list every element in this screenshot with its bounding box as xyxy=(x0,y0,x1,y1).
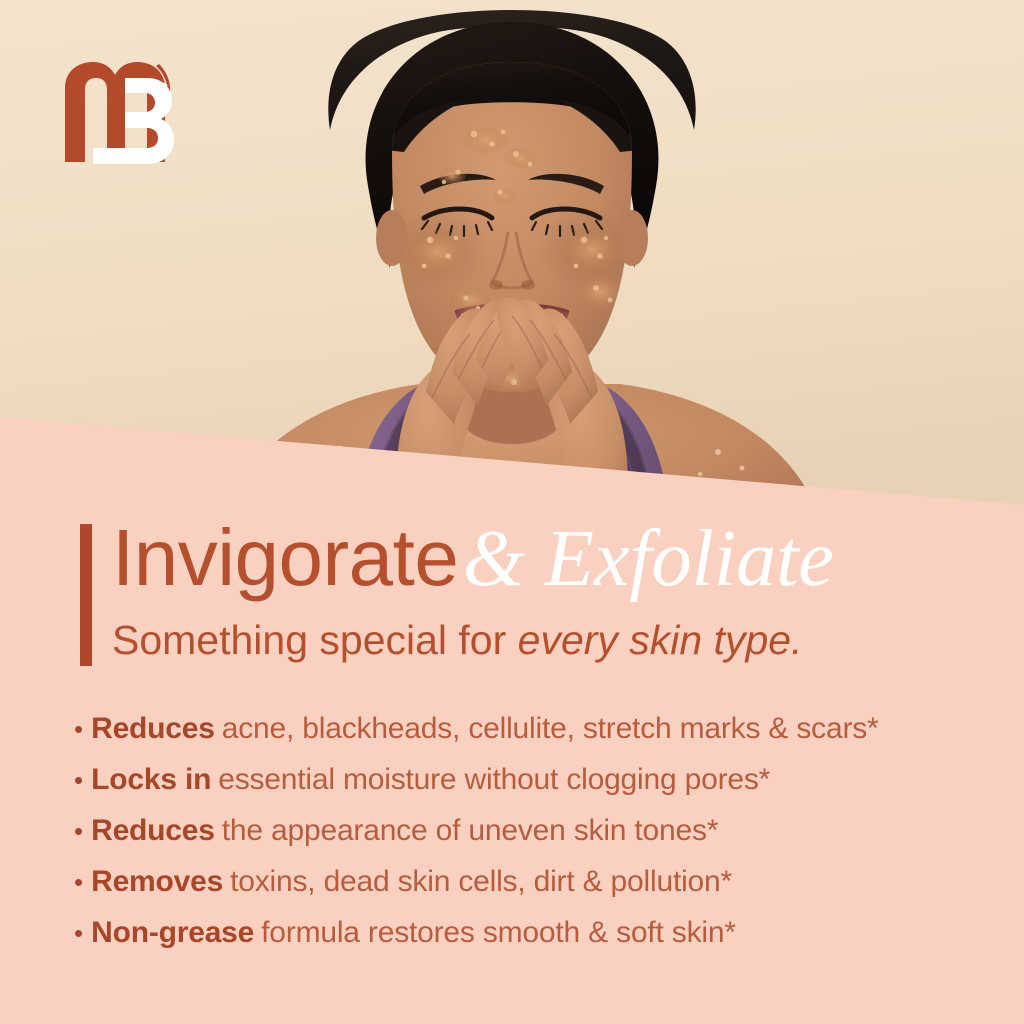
bullet-dot-icon: • xyxy=(74,767,83,793)
list-item: • Reduces the appearance of uneven skin … xyxy=(74,814,1004,848)
subtitle-regular: Something special for xyxy=(112,617,518,663)
subtitle: Something special for every skin type. xyxy=(112,618,992,663)
bullet-dot-icon: • xyxy=(74,920,83,946)
bullet-strong: Locks in xyxy=(91,763,211,797)
bullet-strong: Non-grease xyxy=(91,916,254,950)
headline-accent-bar xyxy=(80,524,92,666)
benefits-list: • Reduces acne, blackheads, cellulite, s… xyxy=(74,712,1004,950)
bullet-dot-icon: • xyxy=(74,869,83,895)
list-item: • Removes toxins, dead skin cells, dirt … xyxy=(74,865,1004,899)
bullet-text: essential moisture without clogging pore… xyxy=(218,763,770,797)
headline-accent: & Exfoliate xyxy=(463,515,834,603)
bullet-text: toxins, dead skin cells, dirt & pollutio… xyxy=(230,865,732,899)
bullet-text: the appearance of uneven skin tones* xyxy=(222,814,719,848)
bullet-dot-icon: • xyxy=(74,818,83,844)
bullet-strong: Reduces xyxy=(91,814,215,848)
list-item: • Reduces acne, blackheads, cellulite, s… xyxy=(74,712,1004,746)
bullet-strong: Reduces xyxy=(91,712,215,746)
bullet-dot-icon: • xyxy=(74,716,83,742)
logo-letter-b xyxy=(93,78,174,164)
headline-main: Invigorate xyxy=(112,513,458,602)
list-item: • Locks in essential moisture without cl… xyxy=(74,763,1004,797)
bullet-text: acne, blackheads, cellulite, stretch mar… xyxy=(222,712,879,746)
bullet-strong: Removes xyxy=(91,865,223,899)
mb-logo-mark xyxy=(55,52,185,177)
list-item: • Non-grease formula restores smooth & s… xyxy=(74,916,1004,950)
bullet-text: formula restores smooth & soft skin* xyxy=(261,916,736,950)
ad-creative: Invigorate & Exfoliate Something special… xyxy=(0,0,1024,1024)
subtitle-italic: every skin type. xyxy=(518,617,803,663)
mb-monogram-logo[interactable] xyxy=(55,52,185,177)
page-title: Invigorate & Exfoliate xyxy=(112,518,992,599)
